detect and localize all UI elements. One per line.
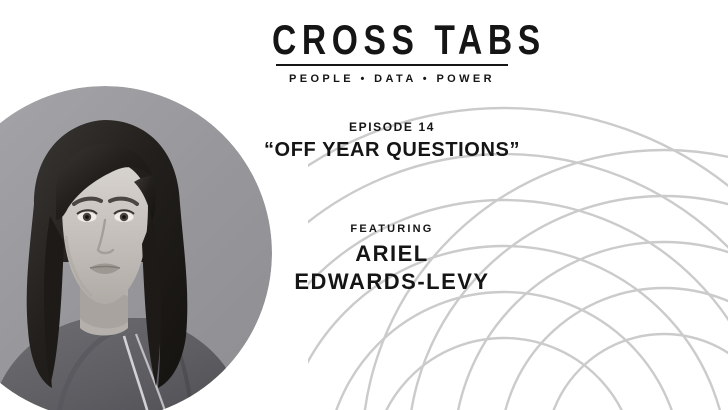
brand-lockup: CROSS TABS PEOPLE • DATA • POWER xyxy=(242,18,542,85)
show-title: CROSS TABS xyxy=(272,18,512,62)
guest-last-name: EDWARDS-LEVY xyxy=(222,269,562,295)
podcast-episode-poster: CROSS TABS PEOPLE • DATA • POWER EPISODE… xyxy=(0,0,728,410)
brand-tagline: PEOPLE • DATA • POWER xyxy=(242,73,542,85)
episode-block: EPISODE 14 “OFF YEAR QUESTIONS” xyxy=(222,120,562,162)
featuring-block: FEATURING ARIEL EDWARDS-LEVY xyxy=(222,223,562,295)
brand-divider xyxy=(276,64,508,66)
guest-first-name: ARIEL xyxy=(222,241,562,267)
episode-number: EPISODE 14 xyxy=(222,120,562,134)
featuring-label: FEATURING xyxy=(222,223,562,235)
episode-title: “OFF YEAR QUESTIONS” xyxy=(222,139,562,162)
